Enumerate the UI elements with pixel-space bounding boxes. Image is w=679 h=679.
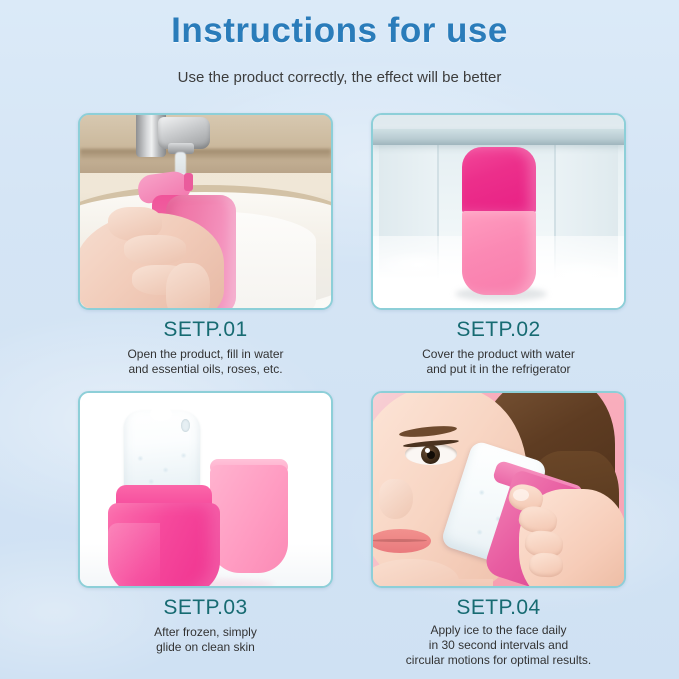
step-card-1: SETP.01 Open the product, fill in water … <box>78 113 333 377</box>
scene-freezer <box>373 115 624 308</box>
page-title: Instructions for use <box>0 10 679 52</box>
step-label-3: SETP.03 <box>78 595 333 621</box>
secondary-holder-light-pink <box>210 465 288 573</box>
step-image-4 <box>371 391 626 588</box>
step-card-3: SETP.03 After frozen, simply glide on cl… <box>78 391 333 668</box>
model-nose <box>379 479 413 519</box>
step-label-1: SETP.01 <box>78 317 333 343</box>
step-description-line: and essential oils, roses, etc. <box>78 362 333 377</box>
step-description-line: glide on clean skin <box>78 640 333 655</box>
step-description-2: Cover the product with water and put it … <box>371 347 626 377</box>
step-image-2 <box>371 113 626 310</box>
scene-face-application <box>373 393 624 586</box>
model-lip-line <box>371 539 427 542</box>
step-caption-1: SETP.01 Open the product, fill in water … <box>78 310 333 377</box>
holder-facet-highlight <box>108 523 160 588</box>
step-caption-4: SETP.04 Apply ice to the face daily in 3… <box>371 588 626 668</box>
step-description-3: After frozen, simply glide on clean skin <box>78 625 333 655</box>
thumb <box>166 263 210 310</box>
steps-row-2: SETP.03 After frozen, simply glide on cl… <box>78 391 626 668</box>
step-card-4: SETP.04 Apply ice to the face daily in 3… <box>371 391 626 668</box>
steps-grid: SETP.01 Open the product, fill in water … <box>78 113 626 668</box>
step-description-line: Open the product, fill in water <box>78 347 333 362</box>
step-card-2: SETP.02 Cover the product with water and… <box>371 113 626 377</box>
step-description-line: in 30 second intervals and <box>371 638 626 653</box>
scene-product-shot <box>80 393 331 586</box>
step-label-2: SETP.02 <box>371 317 626 343</box>
step-description-line: After frozen, simply <box>78 625 333 640</box>
step-description-1: Open the product, fill in water and esse… <box>78 347 333 377</box>
mold-cap-closed <box>462 147 536 213</box>
step-description-line: Cover the product with water <box>371 347 626 362</box>
step-caption-3: SETP.03 After frozen, simply glide on cl… <box>78 588 333 655</box>
page-header: Instructions for use Use the product cor… <box>0 10 679 88</box>
freezer-shelf <box>373 129 624 145</box>
step-image-3 <box>78 391 333 588</box>
ice-cube-hole <box>181 419 190 432</box>
step-label-4: SETP.04 <box>371 595 626 621</box>
mold-lid-hinge <box>184 173 193 191</box>
eye-highlight <box>425 448 430 453</box>
step-description-4: Apply ice to the face daily in 30 second… <box>371 623 626 668</box>
step-image-1 <box>78 113 333 310</box>
step-caption-2: SETP.02 Cover the product with water and… <box>371 310 626 377</box>
step-description-line: and put it in the refrigerator <box>371 362 626 377</box>
instructions-page: Instructions for use Use the product cor… <box>0 0 679 679</box>
page-subtitle: Use the product correctly, the effect wi… <box>0 68 679 88</box>
steps-row-1: SETP.01 Open the product, fill in water … <box>78 113 626 377</box>
finger <box>529 552 564 577</box>
finger <box>124 235 186 265</box>
scene-faucet-filling <box>80 115 331 308</box>
ice-cube-notch <box>150 407 172 421</box>
fingernail <box>513 489 529 501</box>
step-description-line: Apply ice to the face daily <box>371 623 626 638</box>
step-description-line: circular motions for optimal results. <box>371 653 626 668</box>
mold-base <box>462 211 536 295</box>
counter-seam <box>80 149 331 159</box>
